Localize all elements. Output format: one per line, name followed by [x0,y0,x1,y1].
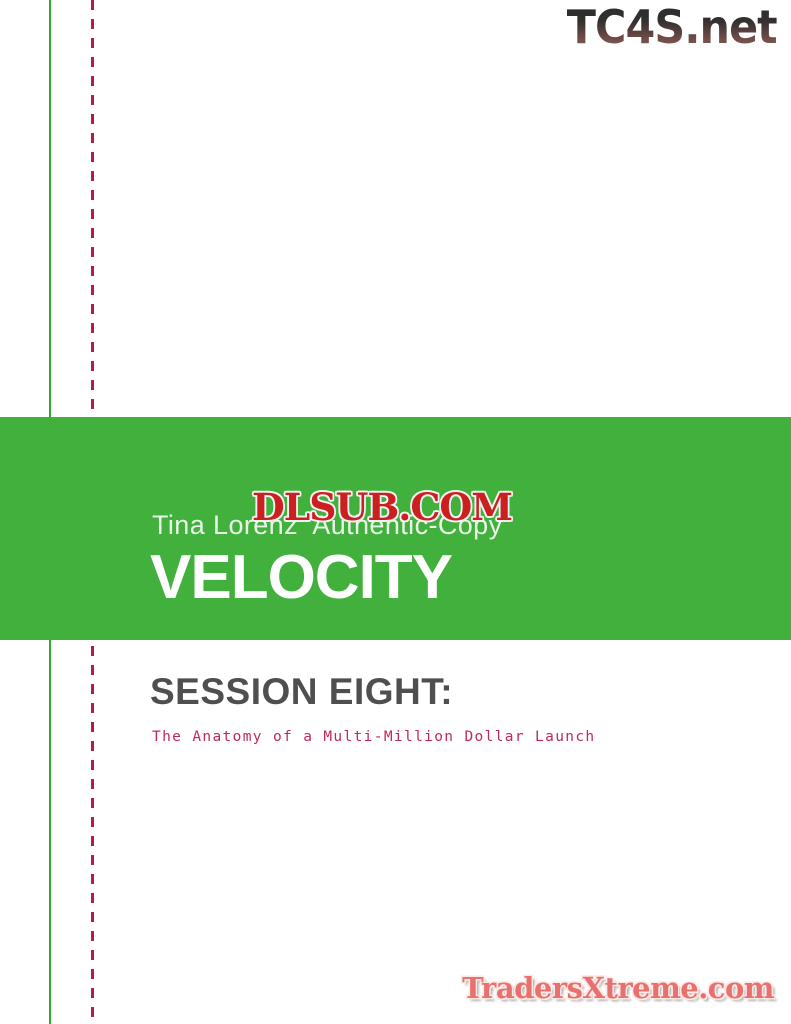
session-heading: SESSION EIGHT: [150,673,453,710]
watermark-banner-overlay: DLSUB.COM [252,489,512,526]
document-title: VELOCITY [150,547,452,609]
document-page: TC4S.net Tina Lorenz Authentic-Copy DLSU… [0,0,791,1024]
session-subtitle: The Anatomy of a Multi-Million Dollar La… [152,730,596,745]
watermark-bottom-right: TradersXtreme.com [462,974,774,1003]
watermark-top-right: TC4S.net [567,4,777,50]
